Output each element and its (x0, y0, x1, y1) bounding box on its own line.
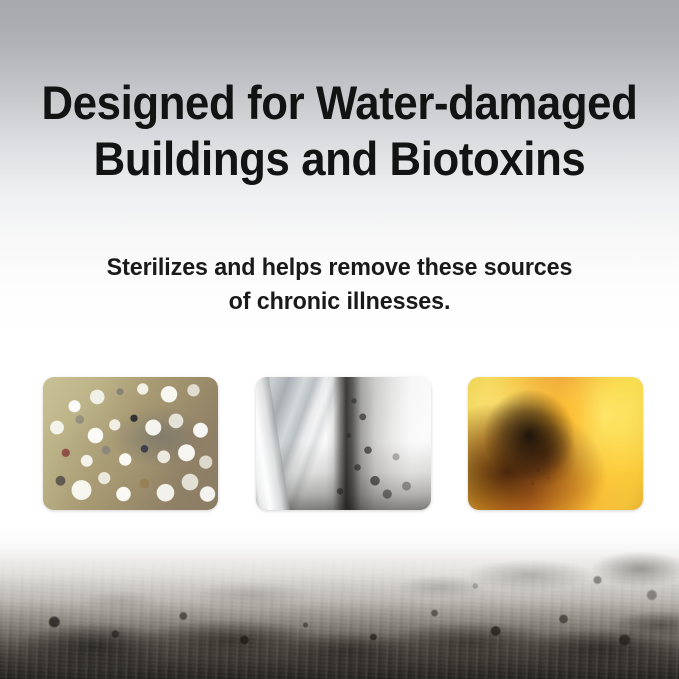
page-subtitle-line-2: of chronic illnesses. (17, 285, 662, 319)
page-title-line-2: Buildings and Biotoxins (24, 131, 655, 187)
infographic-root: Designed for Water-damaged Buildings and… (0, 0, 679, 679)
page-title-line-1: Designed for Water-damaged (24, 75, 655, 131)
mycotoxins-black-mould-window-photo (256, 377, 431, 510)
beta-glucans-spore-cloud-photo (468, 377, 643, 510)
water-damaged-mouldy-wall-photo (0, 529, 679, 679)
page-title: Designed for Water-damaged Buildings and… (24, 75, 655, 187)
actinobacteria-petri-dish-photo (43, 377, 218, 510)
page-subtitle-line-1: Sterilizes and helps remove these source… (17, 251, 662, 285)
page-subtitle: Sterilizes and helps remove these source… (17, 251, 662, 319)
mould-wall-fleck-layer (0, 529, 679, 679)
